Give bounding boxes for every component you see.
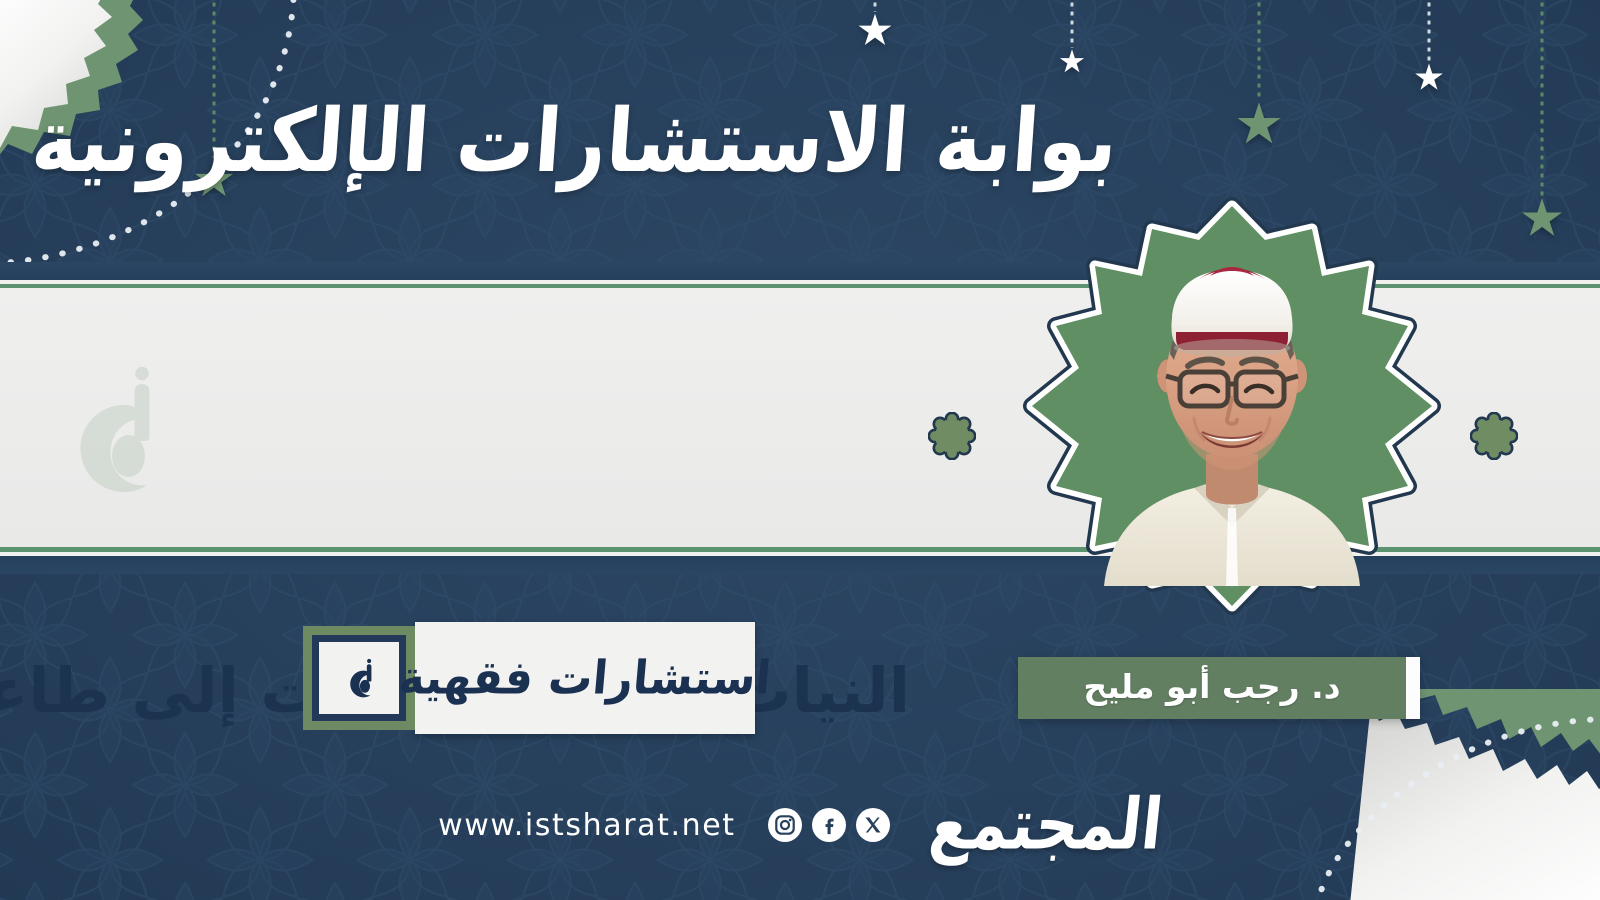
type-badge-label-plate: استشارات فقهية: [415, 622, 755, 734]
mosque-crescent-icon: [336, 655, 382, 701]
header-calligraphy-text: بوابة الاستشارات الإلكترونية: [29, 88, 1122, 197]
speaker-portrait-frame: [1022, 196, 1442, 616]
facebook-icon[interactable]: [812, 808, 846, 842]
speaker-photo: [1082, 226, 1382, 586]
footer: المجتمع www.istsharat.net: [0, 782, 1600, 868]
consultation-type-label: استشارات فقهية: [397, 651, 773, 705]
type-badge-icon-plate: [319, 642, 399, 714]
name-badge-accent-tab: [1406, 657, 1420, 719]
mosque-crescent-watermark-icon: [34, 354, 184, 504]
x-twitter-icon[interactable]: [856, 808, 890, 842]
rosette-ornament-left: [928, 412, 976, 464]
al-mujtama-logo: المجتمع: [926, 790, 1166, 861]
name-badge-body: د. رجب أبو مليح: [1018, 657, 1406, 719]
banner-root: النيات تحول المباحات إلى طاعات: [0, 0, 1600, 900]
rosette-ornament-right: [1470, 412, 1518, 464]
header-calligraphy: بوابة الاستشارات الإلكترونية: [205, 58, 945, 228]
type-badge-frame-navy: [312, 635, 406, 721]
instagram-icon[interactable]: [768, 808, 802, 842]
social-links: [768, 808, 890, 842]
consultation-type-badge: استشارات فقهية: [303, 626, 755, 730]
speaker-name: د. رجب أبو مليح: [1083, 667, 1340, 706]
speaker-name-badge: د. رجب أبو مليح: [1018, 657, 1420, 719]
website-url[interactable]: www.istsharat.net: [438, 808, 736, 843]
